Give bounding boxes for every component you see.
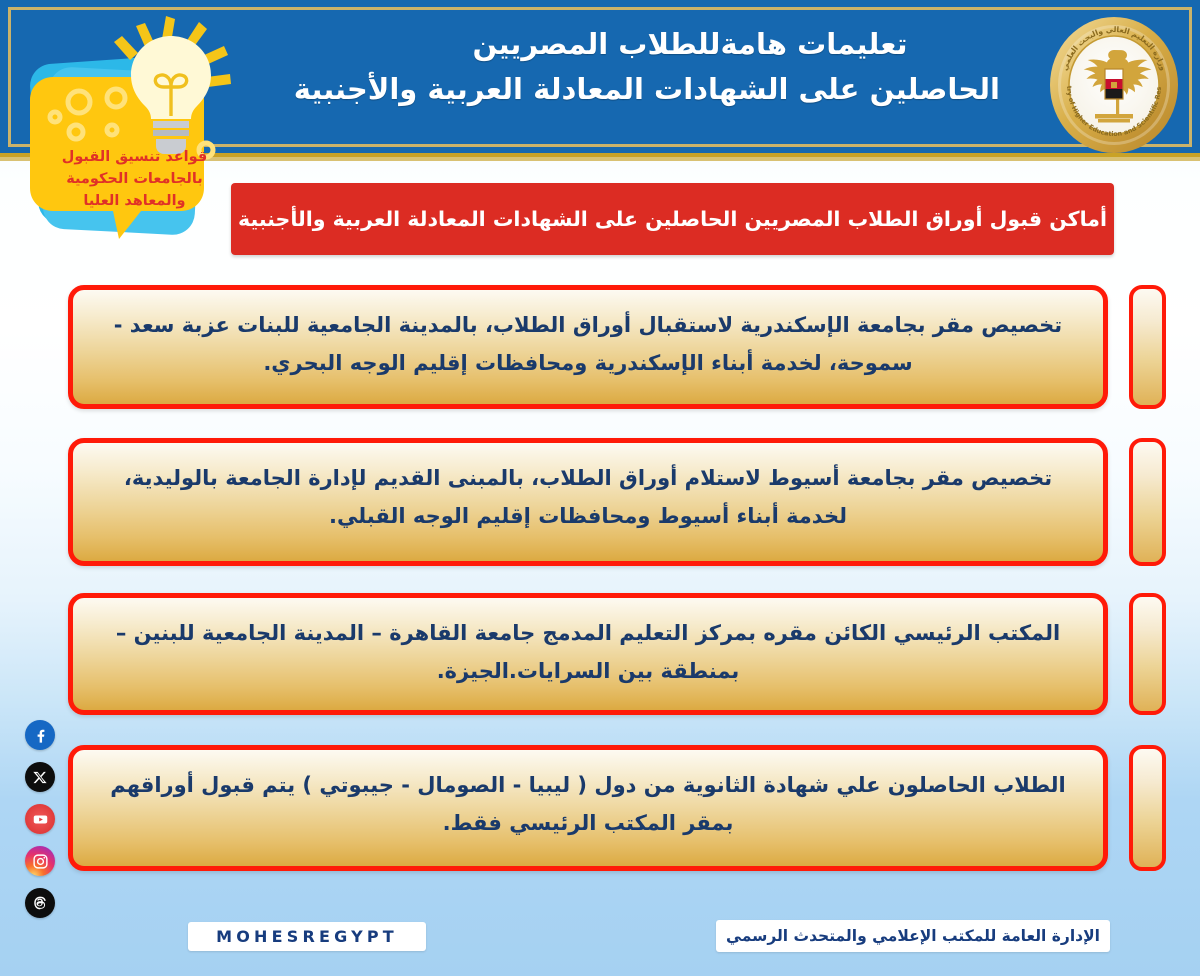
info-card-main-office[interactable]: المكتب الرئيسي الكائن مقره بمركز التعليم… (68, 593, 1108, 715)
threads-icon[interactable] (25, 888, 55, 918)
accent-bar-3 (1129, 593, 1166, 715)
handle-text: MOHESREGYPT (216, 927, 398, 946)
accent-bar-2 (1129, 438, 1166, 566)
info-card-assiut[interactable]: تخصيص مقر بجامعة أسيوط لاستلام أوراق الط… (68, 438, 1108, 566)
infographic-page: تعليمات هامةللطلاب المصريين الحاصلين على… (0, 0, 1200, 976)
facebook-icon[interactable] (25, 720, 55, 750)
info-card-text: المكتب الرئيسي الكائن مقره بمركز التعليم… (107, 614, 1069, 690)
info-card-text: تخصيص مقر بجامعة الإسكندرية لاستقبال أور… (107, 306, 1069, 382)
department-badge: الإدارة العامة للمكتب الإعلامي والمتحدث … (716, 920, 1110, 952)
info-card-text: تخصيص مقر بجامعة أسيوط لاستلام أوراق الط… (107, 459, 1069, 535)
handle-badge[interactable]: MOHESREGYPT (188, 922, 426, 951)
info-card-foreign-countries[interactable]: الطلاب الحاصلون علي شهادة الثانوية من دو… (68, 745, 1108, 871)
accent-bar-4 (1129, 745, 1166, 871)
info-card-alexandria[interactable]: تخصيص مقر بجامعة الإسكندرية لاستقبال أور… (68, 285, 1108, 409)
department-text: الإدارة العامة للمكتب الإعلامي والمتحدث … (726, 927, 1100, 945)
social-links-rail (18, 720, 62, 918)
accent-bar-1 (1129, 285, 1166, 409)
x-twitter-icon[interactable] (25, 762, 55, 792)
youtube-icon[interactable] (25, 804, 55, 834)
instagram-icon[interactable] (25, 846, 55, 876)
info-card-text: الطلاب الحاصلون علي شهادة الثانوية من دو… (107, 766, 1069, 842)
cards-list: تخصيص مقر بجامعة الإسكندرية لاستقبال أور… (0, 0, 1200, 976)
